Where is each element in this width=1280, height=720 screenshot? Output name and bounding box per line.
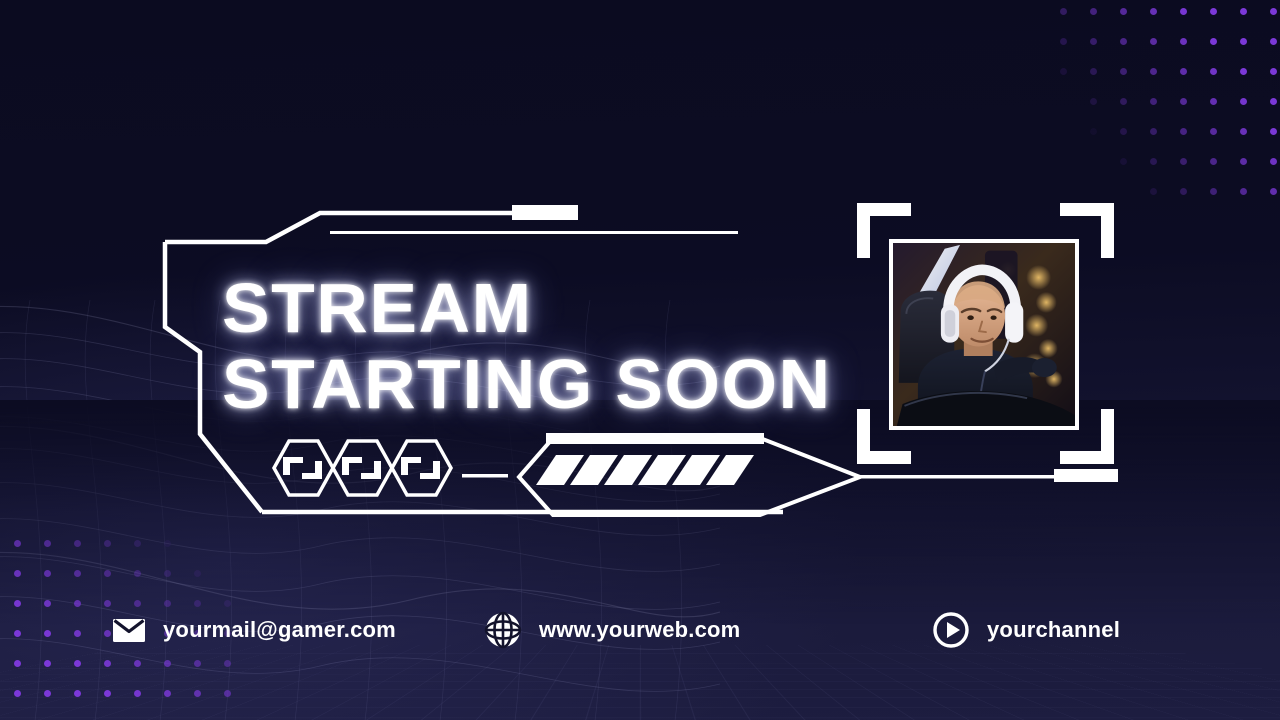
dot — [164, 690, 171, 697]
dot — [44, 690, 51, 697]
dot — [104, 690, 111, 697]
streamer-photo-frame — [889, 239, 1079, 430]
dot — [1240, 38, 1247, 45]
contact-label-channel: yourchannel — [987, 617, 1120, 643]
dot — [1150, 68, 1157, 75]
dot — [74, 540, 81, 547]
dot — [104, 570, 111, 577]
hud-right-tail — [860, 475, 1058, 479]
dot — [1270, 188, 1277, 195]
dot — [1240, 68, 1247, 75]
hud-connector-line — [462, 474, 508, 478]
dot — [1240, 188, 1247, 195]
dot — [1150, 128, 1157, 135]
dot — [1090, 8, 1097, 15]
dot — [164, 540, 171, 547]
dot — [1180, 68, 1187, 75]
dot — [1210, 68, 1217, 75]
dot — [14, 570, 21, 577]
dot — [1120, 8, 1127, 15]
dot — [1180, 128, 1187, 135]
dot — [194, 690, 201, 697]
dot — [1270, 68, 1277, 75]
dot — [1090, 128, 1097, 135]
dot — [1180, 38, 1187, 45]
hud-top-thin-line — [330, 231, 738, 234]
dot — [1210, 98, 1217, 105]
dot — [1180, 158, 1187, 165]
hud-hexagon-glyphs — [274, 441, 451, 495]
hud-right-end-bar — [1054, 469, 1118, 482]
dot — [134, 570, 141, 577]
dot — [1240, 158, 1247, 165]
dot — [1150, 188, 1157, 195]
streamer-photo — [893, 243, 1075, 426]
contact-item-website[interactable]: www.yourweb.com — [484, 600, 740, 660]
dot — [1270, 158, 1277, 165]
dot — [194, 660, 201, 667]
dot — [1240, 98, 1247, 105]
dot — [134, 540, 141, 547]
dot — [1060, 68, 1067, 75]
dot — [194, 570, 201, 577]
dot — [1180, 98, 1187, 105]
contact-item-channel[interactable]: yourchannel — [932, 600, 1120, 660]
dot — [1150, 158, 1157, 165]
dot-field-top-right — [1060, 8, 1280, 218]
dot — [1120, 158, 1127, 165]
dot — [1120, 128, 1127, 135]
contact-label-website: www.yourweb.com — [539, 617, 740, 643]
dot — [1270, 38, 1277, 45]
dot — [44, 660, 51, 667]
dot — [104, 540, 111, 547]
play-icon — [932, 611, 970, 649]
dot — [164, 570, 171, 577]
grid-fade-mask — [0, 400, 1280, 720]
mail-icon — [112, 617, 146, 643]
headline-line-1: STREAM — [222, 272, 895, 344]
dot — [1120, 98, 1127, 105]
dot — [1270, 8, 1277, 15]
dot — [224, 660, 231, 667]
dot — [1060, 38, 1067, 45]
dot — [1210, 158, 1217, 165]
dot — [74, 570, 81, 577]
dot — [44, 570, 51, 577]
dot — [1120, 68, 1127, 75]
contact-item-email[interactable]: yourmail@gamer.com — [112, 600, 396, 660]
dot — [134, 660, 141, 667]
dot — [1060, 8, 1067, 15]
hud-top-bar — [512, 205, 578, 220]
contact-bar: yourmail@gamer.com www.yourweb.com yourc… — [0, 600, 1280, 660]
dot — [14, 660, 21, 667]
dot — [1150, 98, 1157, 105]
globe-icon — [484, 611, 522, 649]
dot — [74, 660, 81, 667]
dot — [74, 690, 81, 697]
dot — [14, 690, 21, 697]
dot — [1210, 38, 1217, 45]
dot — [134, 690, 141, 697]
headline-line-2: STARTING SOON — [222, 348, 895, 420]
headline-block: STREAM STARTING SOON — [222, 272, 882, 420]
dot — [1210, 188, 1217, 195]
dot — [1210, 8, 1217, 15]
dot — [1240, 128, 1247, 135]
dot — [1090, 98, 1097, 105]
dot — [1090, 38, 1097, 45]
stream-overlay-canvas: STREAM STARTING SOON yourmail@gamer.com — [0, 0, 1280, 720]
dot — [1120, 38, 1127, 45]
dot — [1090, 68, 1097, 75]
dot — [44, 540, 51, 547]
dot — [1180, 188, 1187, 195]
dot — [14, 540, 21, 547]
dot — [1210, 128, 1217, 135]
dot — [1150, 8, 1157, 15]
dot — [1270, 128, 1277, 135]
dot — [164, 660, 171, 667]
dot — [1150, 38, 1157, 45]
contact-label-email: yourmail@gamer.com — [163, 617, 396, 643]
hud-stripe-banner — [519, 433, 860, 515]
dot — [1240, 8, 1247, 15]
dot — [1180, 8, 1187, 15]
dot — [104, 660, 111, 667]
dot — [224, 690, 231, 697]
dot — [1270, 98, 1277, 105]
